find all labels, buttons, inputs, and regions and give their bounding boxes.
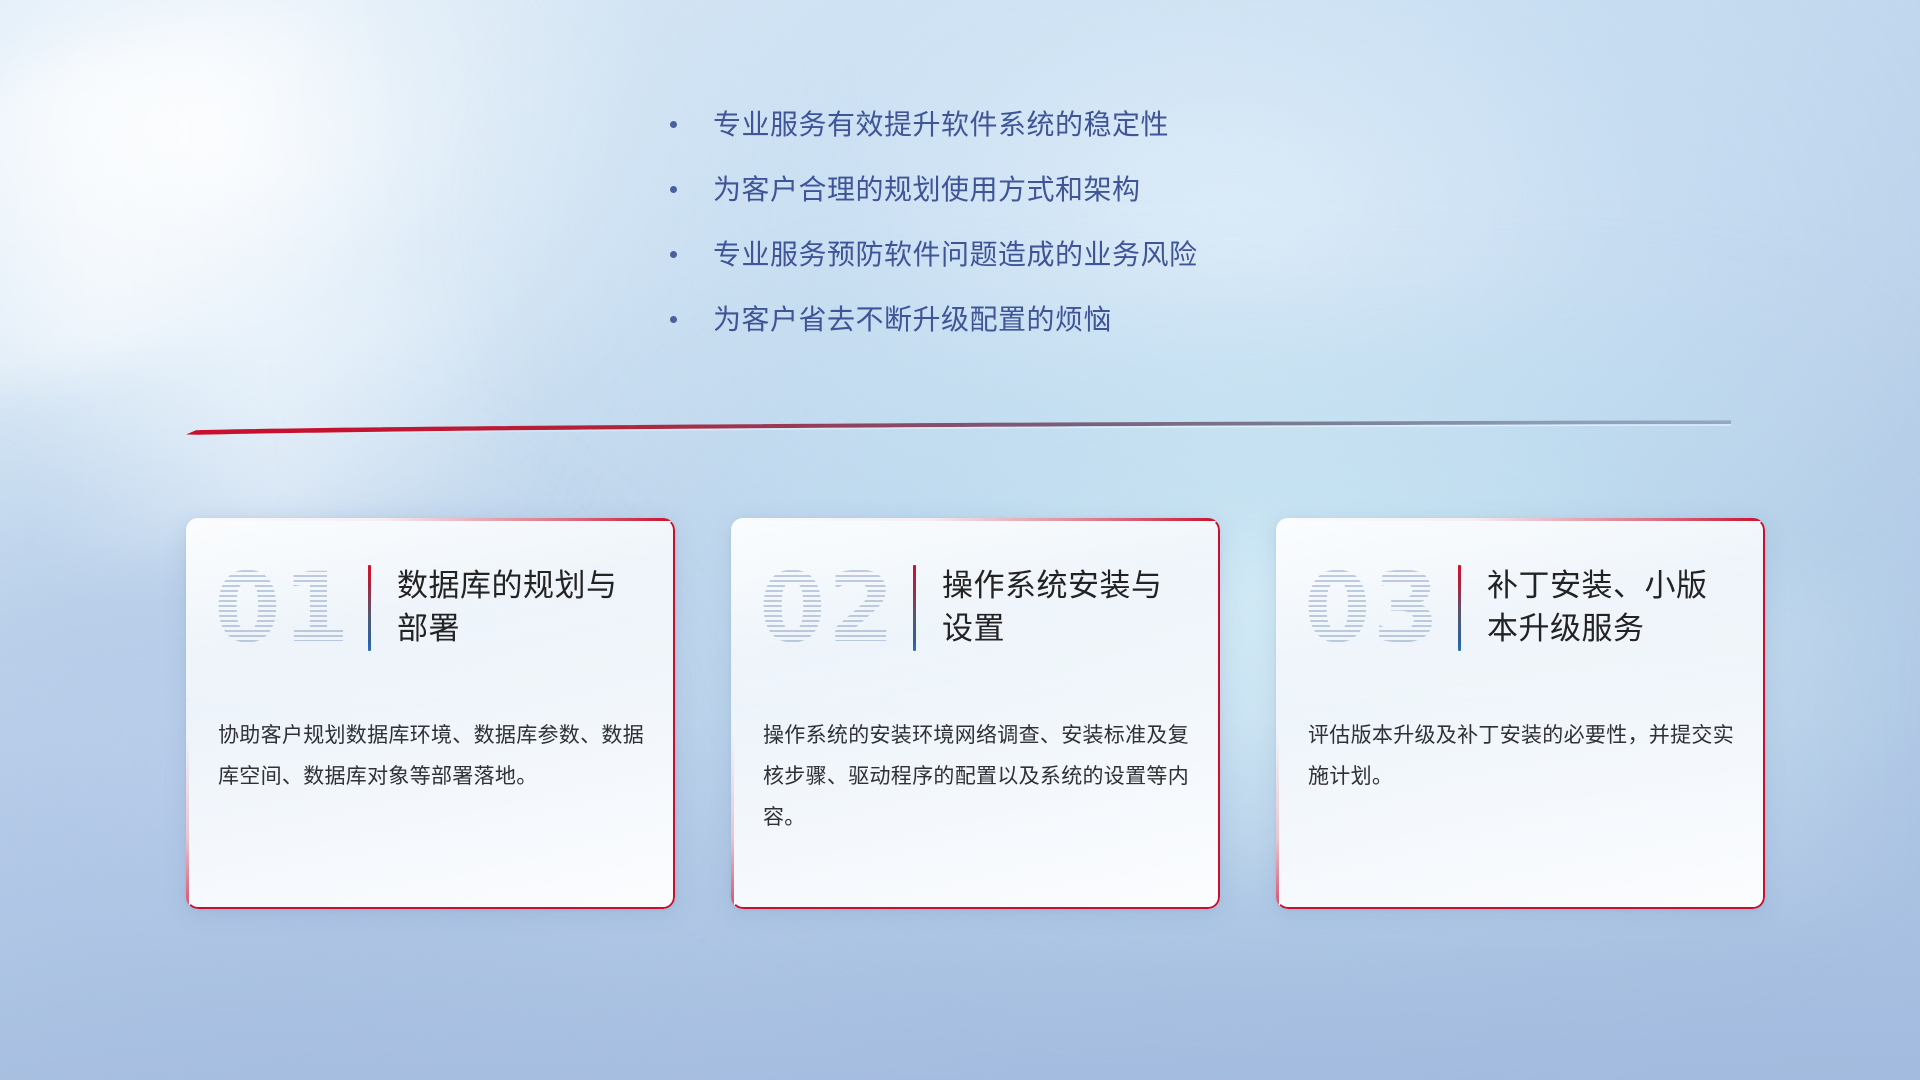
card-description: 评估版本升级及补丁安装的必要性，并提交实施计划。 [1276, 664, 1765, 798]
section-divider-shape [186, 420, 1731, 442]
card-description: 协助客户规划数据库环境、数据库参数、数据库空间、数据库对象等部署落地。 [186, 664, 675, 798]
section-divider [186, 420, 1731, 442]
bullet-dot-icon [670, 316, 677, 323]
bullet-text: 为客户省去不断升级配置的烦恼 [713, 303, 1112, 337]
card-description: 操作系统的安装环境网络调查、安装标准及复核步骤、驱动程序的配置以及系统的设置等内… [731, 664, 1220, 839]
card-number: 03 [1304, 560, 1454, 656]
card-header: 03 补丁安装、小版本升级服务 [1276, 518, 1765, 664]
card-title-separator [368, 565, 371, 651]
card-title-separator [913, 565, 916, 651]
list-item: 专业服务有效提升软件系统的稳定性 [670, 108, 1430, 173]
card-title: 数据库的规划与部署 [397, 565, 647, 651]
list-item: 专业服务预防软件问题造成的业务风险 [670, 238, 1430, 303]
service-card-03[interactable]: 03 补丁安装、小版本升级服务 评估版本升级及补丁安装的必要性，并提交实施计划。 [1276, 518, 1765, 909]
bullet-dot-icon [670, 121, 677, 128]
card-number: 01 [214, 560, 364, 656]
list-item: 为客户合理的规划使用方式和架构 [670, 173, 1430, 238]
card-header: 01 数据库的规划与部署 [186, 518, 675, 664]
bullet-text: 专业服务预防软件问题造成的业务风险 [713, 238, 1198, 272]
service-cards-row: 01 数据库的规划与部署 协助客户规划数据库环境、数据库参数、数据库空间、数据库… [186, 518, 1766, 909]
bullet-dot-icon [670, 251, 677, 258]
card-title: 补丁安装、小版本升级服务 [1487, 565, 1737, 651]
service-card-02[interactable]: 02 操作系统安装与设置 操作系统的安装环境网络调查、安装标准及复核步骤、驱动程… [731, 518, 1220, 909]
bullet-text: 专业服务有效提升软件系统的稳定性 [713, 108, 1169, 142]
bullet-text: 为客户合理的规划使用方式和架构 [713, 173, 1141, 207]
list-item: 为客户省去不断升级配置的烦恼 [670, 303, 1430, 368]
card-title: 操作系统安装与设置 [942, 565, 1192, 651]
card-header: 02 操作系统安装与设置 [731, 518, 1220, 664]
card-number: 02 [759, 560, 909, 656]
card-title-separator [1458, 565, 1461, 651]
benefits-bullet-list: 专业服务有效提升软件系统的稳定性 为客户合理的规划使用方式和架构 专业服务预防软… [670, 108, 1430, 368]
bullet-dot-icon [670, 186, 677, 193]
service-card-01[interactable]: 01 数据库的规划与部署 协助客户规划数据库环境、数据库参数、数据库空间、数据库… [186, 518, 675, 909]
